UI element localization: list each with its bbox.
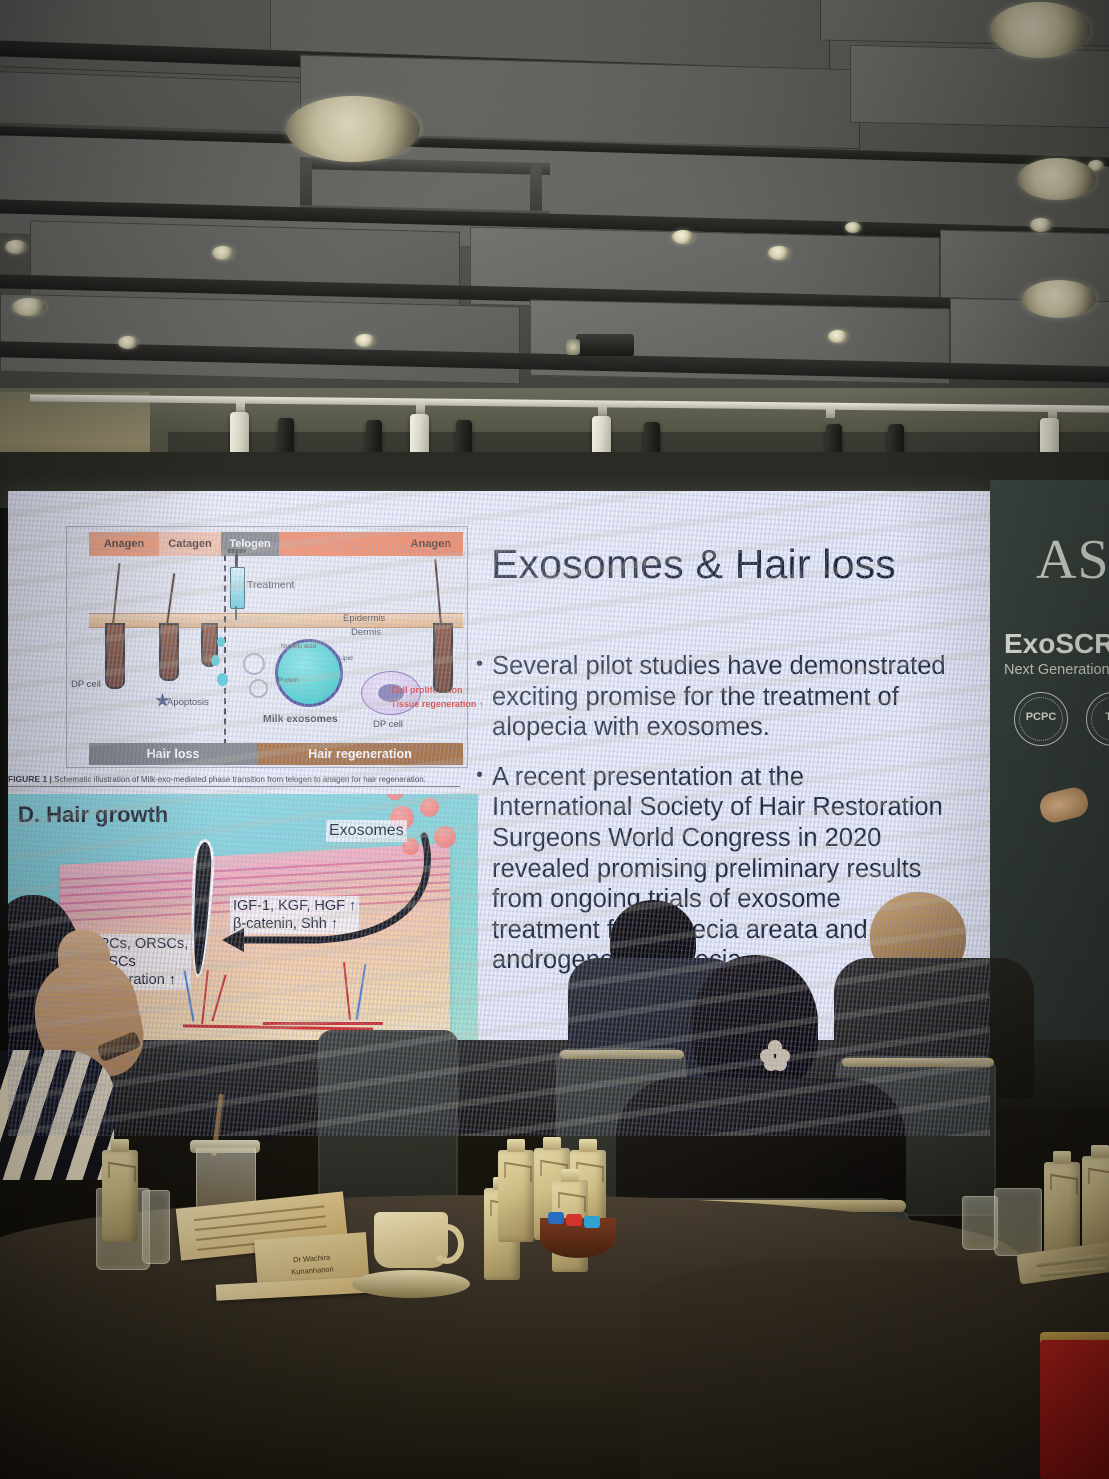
phase-anagen-2: Anagen <box>279 532 463 556</box>
exosome-uptake-arrow-icon <box>198 828 438 968</box>
recessed-light <box>672 230 694 244</box>
bullet-item: • Several pilot studies have demonstrate… <box>476 651 946 743</box>
exosome-droplet <box>211 655 220 666</box>
chair-trim <box>842 1058 994 1067</box>
ceiling-projector <box>576 334 634 356</box>
badge-label: TG <box>1087 711 1109 723</box>
laptop[interactable] <box>174 1042 273 1064</box>
track-mount <box>598 402 607 416</box>
follicle <box>159 623 179 681</box>
recessed-light <box>12 298 46 316</box>
protein-label: Protein <box>278 677 299 684</box>
dp-cell-label-right: DP cell <box>373 719 403 730</box>
figure-caption-label: FIGURE 1 | <box>8 774 52 784</box>
epidermis-band <box>89 613 463 628</box>
banquet-table-right <box>640 1258 1109 1479</box>
recessed-light <box>1030 218 1052 232</box>
attendee-3-head <box>692 955 818 1091</box>
syringe-icon <box>230 567 245 609</box>
recessed-light <box>118 336 138 349</box>
ceiling-speaker <box>286 96 420 162</box>
banner-heading: AS <box>1036 528 1109 592</box>
lipid-label: Lipid <box>339 655 353 662</box>
recessed-light <box>828 330 848 343</box>
banner-tagline: Next Generation <box>1004 662 1109 678</box>
follicle <box>433 623 453 693</box>
phase-label: Anagen <box>104 538 144 550</box>
tissue-regeneration-label: Tissue regeneration ↑ <box>391 699 483 709</box>
slide-title: Exosomes & Hair loss <box>491 541 961 588</box>
water-carton[interactable] <box>1082 1156 1109 1248</box>
apoptosis-label: Apoptosis <box>167 697 209 708</box>
water-glass[interactable] <box>142 1190 170 1264</box>
phase-label: Anagen <box>411 538 451 550</box>
track-mount <box>826 404 835 418</box>
hair-cycle-phase-bar: Anagen Catagen Telogen Anagen <box>89 532 463 556</box>
exosome-droplet <box>217 637 225 647</box>
candy <box>584 1216 600 1228</box>
ceiling <box>0 0 1109 392</box>
side-table <box>168 1060 288 1140</box>
badge-label: PCPC <box>1015 711 1067 723</box>
treatment-label: Treatment <box>247 579 294 591</box>
small-exosome <box>249 679 268 698</box>
figure-1-caption: FIGURE 1 | Schematic illustration of Mil… <box>8 774 460 787</box>
chair-trim <box>560 1050 684 1059</box>
nucleic-acid-label: Nucleic acid <box>281 643 316 650</box>
woman-left-striped-top <box>0 1050 114 1180</box>
hair-loss-bar: Hair loss <box>89 743 257 765</box>
hair-regeneration-bar: Hair regeneration <box>257 743 463 765</box>
ceiling-speaker <box>1018 158 1096 200</box>
saucer <box>352 1270 470 1298</box>
epidermis-label: Epidermis <box>343 613 385 624</box>
conference-photo: Anagen Catagen Telogen Anagen Epidermis … <box>0 0 1109 1479</box>
track-mount <box>416 401 425 415</box>
water-glass[interactable] <box>962 1196 998 1250</box>
candy <box>548 1212 564 1224</box>
milk-exosomes-label: Milk exosomes <box>263 713 338 725</box>
syringe-needle <box>235 606 237 620</box>
coffee-cup[interactable] <box>374 1212 448 1268</box>
water-glass[interactable] <box>994 1188 1042 1256</box>
recessed-light <box>845 222 861 233</box>
recessed-light <box>355 334 375 347</box>
recessed-light <box>212 246 234 260</box>
dp-cell-label-left: DP cell <box>71 679 101 690</box>
figure-caption-text: Schematic illustration of Milk-exo-media… <box>54 775 426 784</box>
small-exosome <box>243 653 265 675</box>
banner-product-name: ExoSCR <box>1004 628 1109 660</box>
figure-1-panel: Anagen Catagen Telogen Anagen Epidermis … <box>66 526 468 768</box>
water-carton[interactable] <box>102 1150 138 1242</box>
bullet-marker-icon: • <box>476 651 483 743</box>
ceiling-speaker <box>990 2 1090 58</box>
recessed-light <box>768 246 790 260</box>
pcpc-badge: PCPC <box>1014 692 1068 746</box>
cell-proliferation-label: Cell proliferation ↑ <box>391 685 470 695</box>
exosome-droplet <box>217 673 228 686</box>
panel-d-title: D. Hair growth <box>18 802 168 828</box>
phase-label: Catagen <box>168 538 211 550</box>
flower-hair-clip-icon <box>760 1040 790 1070</box>
figure1-bottom-bar: Hair loss Hair regeneration <box>89 743 463 765</box>
red-gift-bag[interactable] <box>1040 1340 1109 1479</box>
cup-handle <box>430 1224 464 1264</box>
exosome-particle <box>386 794 404 800</box>
phase-anagen: Anagen <box>89 532 159 556</box>
recessed-light <box>5 240 27 254</box>
water-carton[interactable] <box>498 1150 534 1242</box>
bullet-marker-icon: • <box>476 762 483 976</box>
tg-badge: TG <box>1086 692 1109 746</box>
water-carton[interactable] <box>1044 1162 1080 1254</box>
candy <box>566 1214 582 1226</box>
phase-divider <box>224 555 226 745</box>
exosome-particle <box>420 798 439 817</box>
dermis-label: Dermis <box>351 627 381 638</box>
phase-catagen: Catagen <box>159 532 221 556</box>
bullet-text: Several pilot studies have demonstrated … <box>492 651 946 743</box>
follicle <box>105 623 125 689</box>
ceiling-speaker <box>1022 280 1096 318</box>
